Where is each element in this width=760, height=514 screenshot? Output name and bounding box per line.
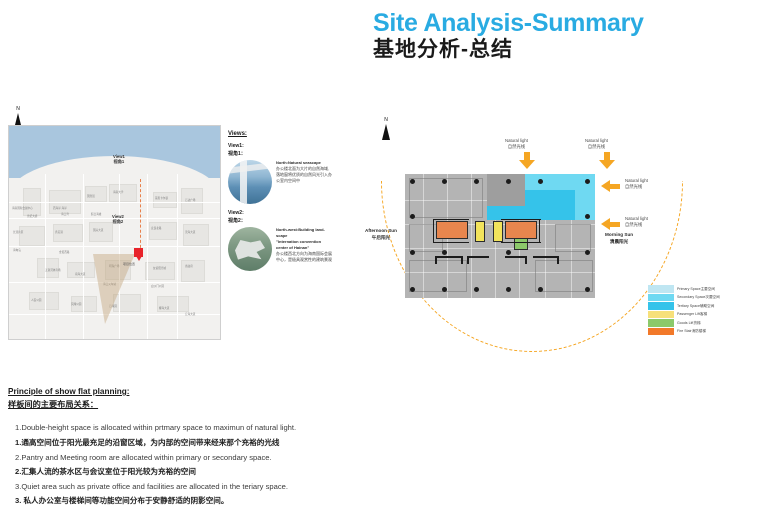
- principle-line-1-en: 1.Double-height space is allocated withi…: [8, 421, 438, 436]
- legend-row: Goods Lift货梯: [648, 319, 753, 327]
- view1-name-cn: 视角1：: [228, 151, 246, 157]
- map-label: 国宾馆: [87, 194, 95, 198]
- map-label: 长流片区: [13, 230, 23, 234]
- morning-sun-label: Morning Sun 清晨阳光: [605, 232, 633, 245]
- view2-map-tag: View2 视角2: [112, 214, 124, 225]
- map-block: [145, 262, 175, 280]
- view2-caption-cn-2: 中心，是极具观赏性的建筑景观: [276, 257, 332, 263]
- natural-light-label-right-2: Natural light 自然光线: [625, 216, 648, 228]
- north-arrow-plan-label: N: [378, 118, 394, 123]
- map-label: 海南大学: [113, 190, 123, 194]
- legend-label-tertiary-space: Tertiary Space辅助空间: [677, 304, 714, 309]
- natural-light-arrow-right-2: [601, 218, 620, 231]
- map-label: 友谊阳光城: [153, 266, 166, 270]
- legend-row: Passenger Lift客梯: [648, 311, 753, 319]
- map-label: 龙昆北路: [151, 226, 161, 230]
- page-title-en: Site Analysis-Summary: [373, 10, 753, 36]
- principle-line-3-cn: 3. 私人办公室与楼梯间等功能空间分布于安静舒适的阴影空间。: [8, 494, 438, 509]
- principle-heading-cn: 样板间的主要布局关系：: [8, 399, 438, 412]
- legend-label-fire-stair: Fire Stair消防楼梯: [677, 329, 706, 334]
- map-label: 丽思卡尔顿: [155, 196, 168, 200]
- north-arrow-icon-plan: N: [378, 118, 394, 142]
- principle-line-1-cn: 1.通高空间位于阳光最充足的沿窗区域，为内部的空间带来经来那个充裕的光线: [8, 436, 438, 451]
- map-label: 丘海大道: [185, 312, 195, 316]
- afternoon-sun-label: Afternoon Sun 午后阳光: [365, 228, 397, 241]
- passenger-lift-right: [493, 221, 503, 242]
- map-block: [19, 226, 45, 246]
- view1-map-tag-cn: 视角1: [114, 159, 125, 164]
- view1-caption-cn-3: 公室内空间中: [276, 178, 332, 184]
- views-heading: Views:: [228, 131, 368, 137]
- natural-light-label-right-1: Natural light 自然光线: [625, 178, 648, 190]
- passenger-lift-left: [475, 221, 485, 242]
- legend-label-secondary-space: Secondary Space次要空间: [677, 295, 720, 300]
- legend: Primary Space主要空间 Secondary Space次要空间 Te…: [648, 285, 753, 336]
- site-map-panel: N 海南国际: [8, 125, 221, 340]
- view1-name: View1: 视角1：: [228, 143, 368, 158]
- map-road: [177, 174, 178, 339]
- map-road: [9, 246, 220, 247]
- natural-light-label-top-2: Natural light 自然光线: [585, 138, 608, 150]
- map-label: 凤翔公园: [71, 302, 81, 306]
- view2-name-cn: 视角2：: [228, 218, 246, 224]
- legend-label-passenger-lift: Passenger Lift客梯: [677, 312, 707, 317]
- natural-light-arrow-top-1: [519, 152, 535, 169]
- principle-heading-en: Principle of show flat planning:: [8, 386, 438, 399]
- legend-swatch-passenger-lift: [648, 311, 674, 319]
- map-label: 万达广场: [185, 198, 195, 202]
- view1-name-en: View1:: [228, 143, 244, 149]
- legend-swatch-primary-space: [648, 285, 674, 293]
- view-sightline: [140, 179, 141, 253]
- view-entry-2: View2: 视角2： North-west:Building land- sc…: [228, 210, 368, 271]
- natural-light-label-top-1: Natural light 自然光线: [505, 138, 528, 150]
- principle-section: Principle of show flat planning: 样板间的主要布…: [8, 386, 438, 509]
- map-label: 假日海滩: [91, 212, 101, 216]
- legend-swatch-fire-stair: [648, 328, 674, 336]
- map-label: 椰海大道: [159, 306, 169, 310]
- map-block: [183, 224, 209, 246]
- north-arrow-label: N: [10, 107, 26, 112]
- view2-map-tag-cn: 视角2: [113, 219, 124, 224]
- view1-map-tag: View1 视角1: [113, 154, 125, 165]
- site-location-label: 项目位置: [123, 262, 135, 266]
- principle-line-2-en: 2.Pantry and Meeting room are allocated …: [8, 451, 438, 466]
- legend-label-goods-lift: Goods Lift货梯: [677, 321, 701, 326]
- legend-row: Primary Space主要空间: [648, 285, 753, 293]
- legend-row: Secondary Space次要空间: [648, 294, 753, 302]
- view2-photo[interactable]: [228, 227, 272, 271]
- site-location-pin-icon: [136, 256, 142, 261]
- legend-label-primary-space: Primary Space主要空间: [677, 287, 715, 292]
- map-label: 省政府: [185, 264, 193, 268]
- room-primary-right: [505, 221, 537, 239]
- map-label: 海甸岛: [13, 248, 21, 252]
- natural-light-arrow-right-1: [601, 180, 620, 193]
- zone-secondary: [487, 205, 541, 220]
- map-label: 西海岸·海岸: [53, 206, 67, 210]
- principle-line-2-cn: 2.汇集人流的茶水区与会议室位于阳光较为充裕的空间: [8, 465, 438, 480]
- map-label: 国兴大道: [93, 228, 103, 232]
- page-title-cn: 基地分析-总结: [373, 37, 753, 63]
- map-label: 滨海大道: [185, 230, 195, 234]
- view-entry-1: View1: 视角1： North:Natural seascape 办公楼北面…: [228, 143, 368, 204]
- map-label: 五源河体育场: [45, 268, 61, 272]
- map-road: [45, 174, 46, 339]
- legend-row: Fire Stair消防楼梯: [648, 328, 753, 336]
- site-map[interactable]: 海南国际会展中心 西海岸·海岸 国宾馆 海南大学 丽思卡尔顿 万达广场 世纪大桥…: [8, 125, 221, 340]
- view2-name-en: View2:: [228, 210, 244, 216]
- map-block: [89, 222, 113, 242]
- view1-caption: North:Natural seascape 办公楼北面为大片的自然海域, 落地…: [276, 160, 332, 184]
- legend-swatch-secondary-space: [648, 294, 674, 302]
- map-road: [83, 174, 84, 339]
- view2-caption: North-west:Building land- scape "Interna…: [276, 227, 332, 263]
- map-label: 白沙门公园: [151, 284, 164, 288]
- view1-photo[interactable]: [228, 160, 272, 204]
- views-panel: Views: View1: 视角1： North:Natural seascap…: [228, 131, 368, 277]
- map-label: 海口湾: [61, 212, 69, 216]
- natural-light-arrow-top-2: [599, 152, 615, 169]
- legend-row: Tertiary Space辅助空间: [648, 302, 753, 310]
- map-label: 人民公园: [31, 298, 41, 302]
- legend-swatch-goods-lift: [648, 319, 674, 327]
- map-road: [147, 174, 148, 339]
- map-block: [149, 222, 177, 240]
- view2-name: View2: 视角2：: [228, 210, 368, 225]
- goods-lift: [514, 238, 528, 250]
- map-road: [9, 202, 220, 203]
- map-label: 海南国际会展中心: [12, 206, 33, 210]
- page-title: Site Analysis-Summary 基地分析-总结: [373, 10, 753, 64]
- map-block: [153, 192, 177, 208]
- map-label: 金贸西路: [59, 250, 69, 254]
- map-label: 秀英港: [55, 230, 63, 234]
- north-arrow-plan-triangle: [382, 124, 390, 140]
- map-label: 世纪大桥: [27, 214, 37, 218]
- floor-plan-drawing[interactable]: [405, 174, 595, 298]
- principle-line-3-en: 3.Quiet area such as private office and …: [8, 480, 438, 495]
- legend-swatch-tertiary-space: [648, 302, 674, 310]
- room-primary-left: [436, 221, 468, 239]
- map-label: 南海大道: [75, 272, 85, 276]
